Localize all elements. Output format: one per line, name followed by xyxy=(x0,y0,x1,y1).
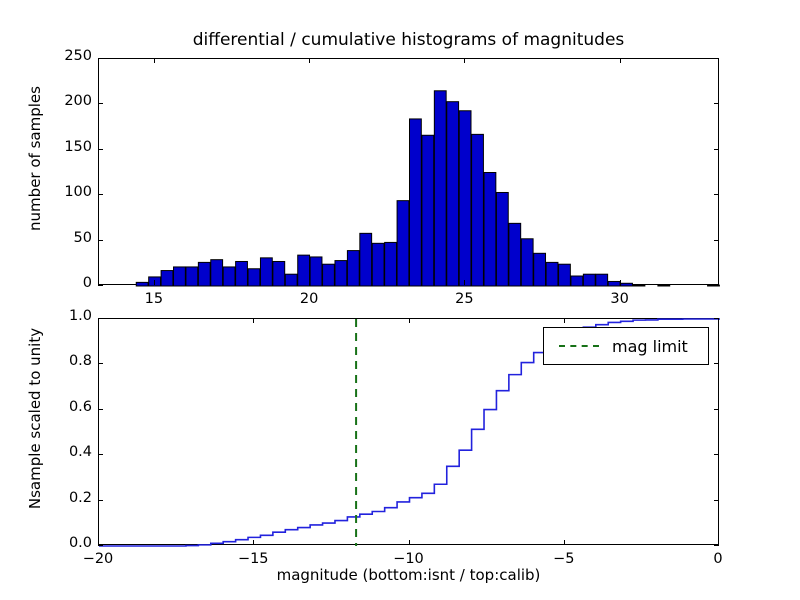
tick-mark xyxy=(464,280,465,285)
bottom-ytick-label: 0.0 xyxy=(32,535,92,551)
histogram-bar xyxy=(633,285,645,286)
histogram-bar xyxy=(310,257,322,286)
histogram-bar xyxy=(335,261,347,286)
top-ytick-label: 150 xyxy=(32,139,92,155)
tick-mark xyxy=(714,454,719,455)
tick-mark xyxy=(98,149,103,150)
bottom-ytick-label: 0.2 xyxy=(32,490,92,506)
tick-mark xyxy=(714,149,719,150)
histogram-bar xyxy=(198,262,210,286)
tick-mark xyxy=(98,540,99,545)
top-ytick-label: 50 xyxy=(32,230,92,246)
histogram-bar xyxy=(534,253,546,286)
histogram-bar xyxy=(434,91,446,286)
tick-mark xyxy=(253,540,254,545)
top-ytick-label: 250 xyxy=(32,48,92,64)
top-xtick-label: 20 xyxy=(279,291,339,307)
tick-mark xyxy=(564,318,565,323)
histogram-bar xyxy=(447,102,459,286)
histogram-bar xyxy=(273,261,285,286)
top-xtick-label: 15 xyxy=(124,291,184,307)
legend[interactable]: mag limit xyxy=(543,327,709,365)
histogram-bar xyxy=(223,267,235,286)
tick-mark xyxy=(714,545,719,546)
tick-mark xyxy=(98,318,99,323)
tick-mark xyxy=(714,285,719,286)
bottom-ytick-label: 1.0 xyxy=(32,308,92,324)
tick-mark xyxy=(714,194,719,195)
dashed-line-icon xyxy=(559,345,599,347)
histogram-bar xyxy=(298,255,310,286)
tick-mark xyxy=(714,363,719,364)
bottom-xtick-label: −10 xyxy=(379,551,439,567)
figure-title: differential / cumulative histograms of … xyxy=(98,30,719,50)
tick-mark xyxy=(620,280,621,285)
tick-mark xyxy=(253,318,254,323)
histogram-bar xyxy=(596,274,608,286)
top-xtick-label: 30 xyxy=(590,291,650,307)
top-ytick-label: 100 xyxy=(32,184,92,200)
histogram-bar xyxy=(323,264,335,286)
histogram-bar xyxy=(136,282,148,286)
histogram-bars-canvas xyxy=(99,59,720,286)
tick-mark xyxy=(154,280,155,285)
top-ytick-label: 0 xyxy=(32,275,92,291)
bottom-ytick-label: 0.6 xyxy=(32,399,92,415)
histogram-bar xyxy=(385,242,397,286)
tick-mark xyxy=(409,318,410,323)
histogram-bar xyxy=(658,285,670,286)
histogram-bar xyxy=(211,260,223,286)
bottom-ytick-label: 0.4 xyxy=(32,444,92,460)
bottom-xtick-label: 0 xyxy=(688,551,748,567)
histogram-bar xyxy=(397,201,409,286)
tick-mark xyxy=(409,540,410,545)
tick-mark xyxy=(714,58,719,59)
tick-mark xyxy=(98,454,103,455)
histogram-bar xyxy=(496,192,508,286)
histogram-bar xyxy=(571,276,583,286)
bottom-ytick-label: 0.8 xyxy=(32,353,92,369)
histogram-bar xyxy=(260,258,272,286)
top-xtick-label: 25 xyxy=(434,291,494,307)
tick-mark xyxy=(620,58,621,63)
histogram-bar xyxy=(521,239,533,286)
histogram-bar xyxy=(410,119,422,286)
histogram-bar xyxy=(236,261,248,286)
tick-mark xyxy=(309,58,310,63)
tick-mark xyxy=(714,240,719,241)
tick-mark xyxy=(564,540,565,545)
histogram-bar xyxy=(472,134,484,286)
tick-mark xyxy=(98,240,103,241)
tick-mark xyxy=(98,363,103,364)
histogram-bar xyxy=(285,274,297,286)
tick-mark xyxy=(718,540,719,545)
legend-label-mag-limit: mag limit xyxy=(606,337,688,356)
matplotlib-figure: differential / cumulative histograms of … xyxy=(0,0,800,600)
tick-mark xyxy=(98,409,103,410)
tick-mark xyxy=(98,103,103,104)
histogram-bar xyxy=(608,281,620,286)
histogram-bar xyxy=(161,271,173,286)
tick-mark xyxy=(98,545,103,546)
tick-mark xyxy=(714,500,719,501)
histogram-bar xyxy=(174,267,186,286)
tick-mark xyxy=(309,280,310,285)
histogram-bar xyxy=(248,269,260,286)
histogram-bar xyxy=(422,135,434,286)
histogram-bar xyxy=(559,264,571,286)
bottom-xtick-label: −15 xyxy=(223,551,283,567)
top-axes-differential-histogram xyxy=(98,58,719,285)
tick-mark xyxy=(98,194,103,195)
bottom-xtick-label: −5 xyxy=(534,551,594,567)
tick-mark xyxy=(98,58,103,59)
top-ytick-label: 200 xyxy=(32,93,92,109)
tick-mark xyxy=(718,318,719,323)
legend-swatch-mag-limit xyxy=(552,345,606,347)
histogram-bar xyxy=(583,274,595,286)
tick-mark xyxy=(714,409,719,410)
bottom-axes-xlabel: magnitude (bottom:isnt / top:calib) xyxy=(98,566,719,584)
tick-mark xyxy=(98,500,103,501)
tick-mark xyxy=(714,103,719,104)
histogram-bar xyxy=(484,173,496,287)
bottom-xtick-label: −20 xyxy=(68,551,128,567)
histogram-bar xyxy=(347,251,359,286)
histogram-bar xyxy=(459,111,471,286)
histogram-bar xyxy=(360,233,372,286)
tick-mark xyxy=(464,58,465,63)
histogram-bar xyxy=(546,262,558,286)
tick-mark xyxy=(98,285,103,286)
histogram-bar xyxy=(372,243,384,286)
tick-mark xyxy=(154,58,155,63)
histogram-bar xyxy=(621,283,633,286)
histogram-bar xyxy=(186,267,198,286)
histogram-bar xyxy=(509,223,521,286)
